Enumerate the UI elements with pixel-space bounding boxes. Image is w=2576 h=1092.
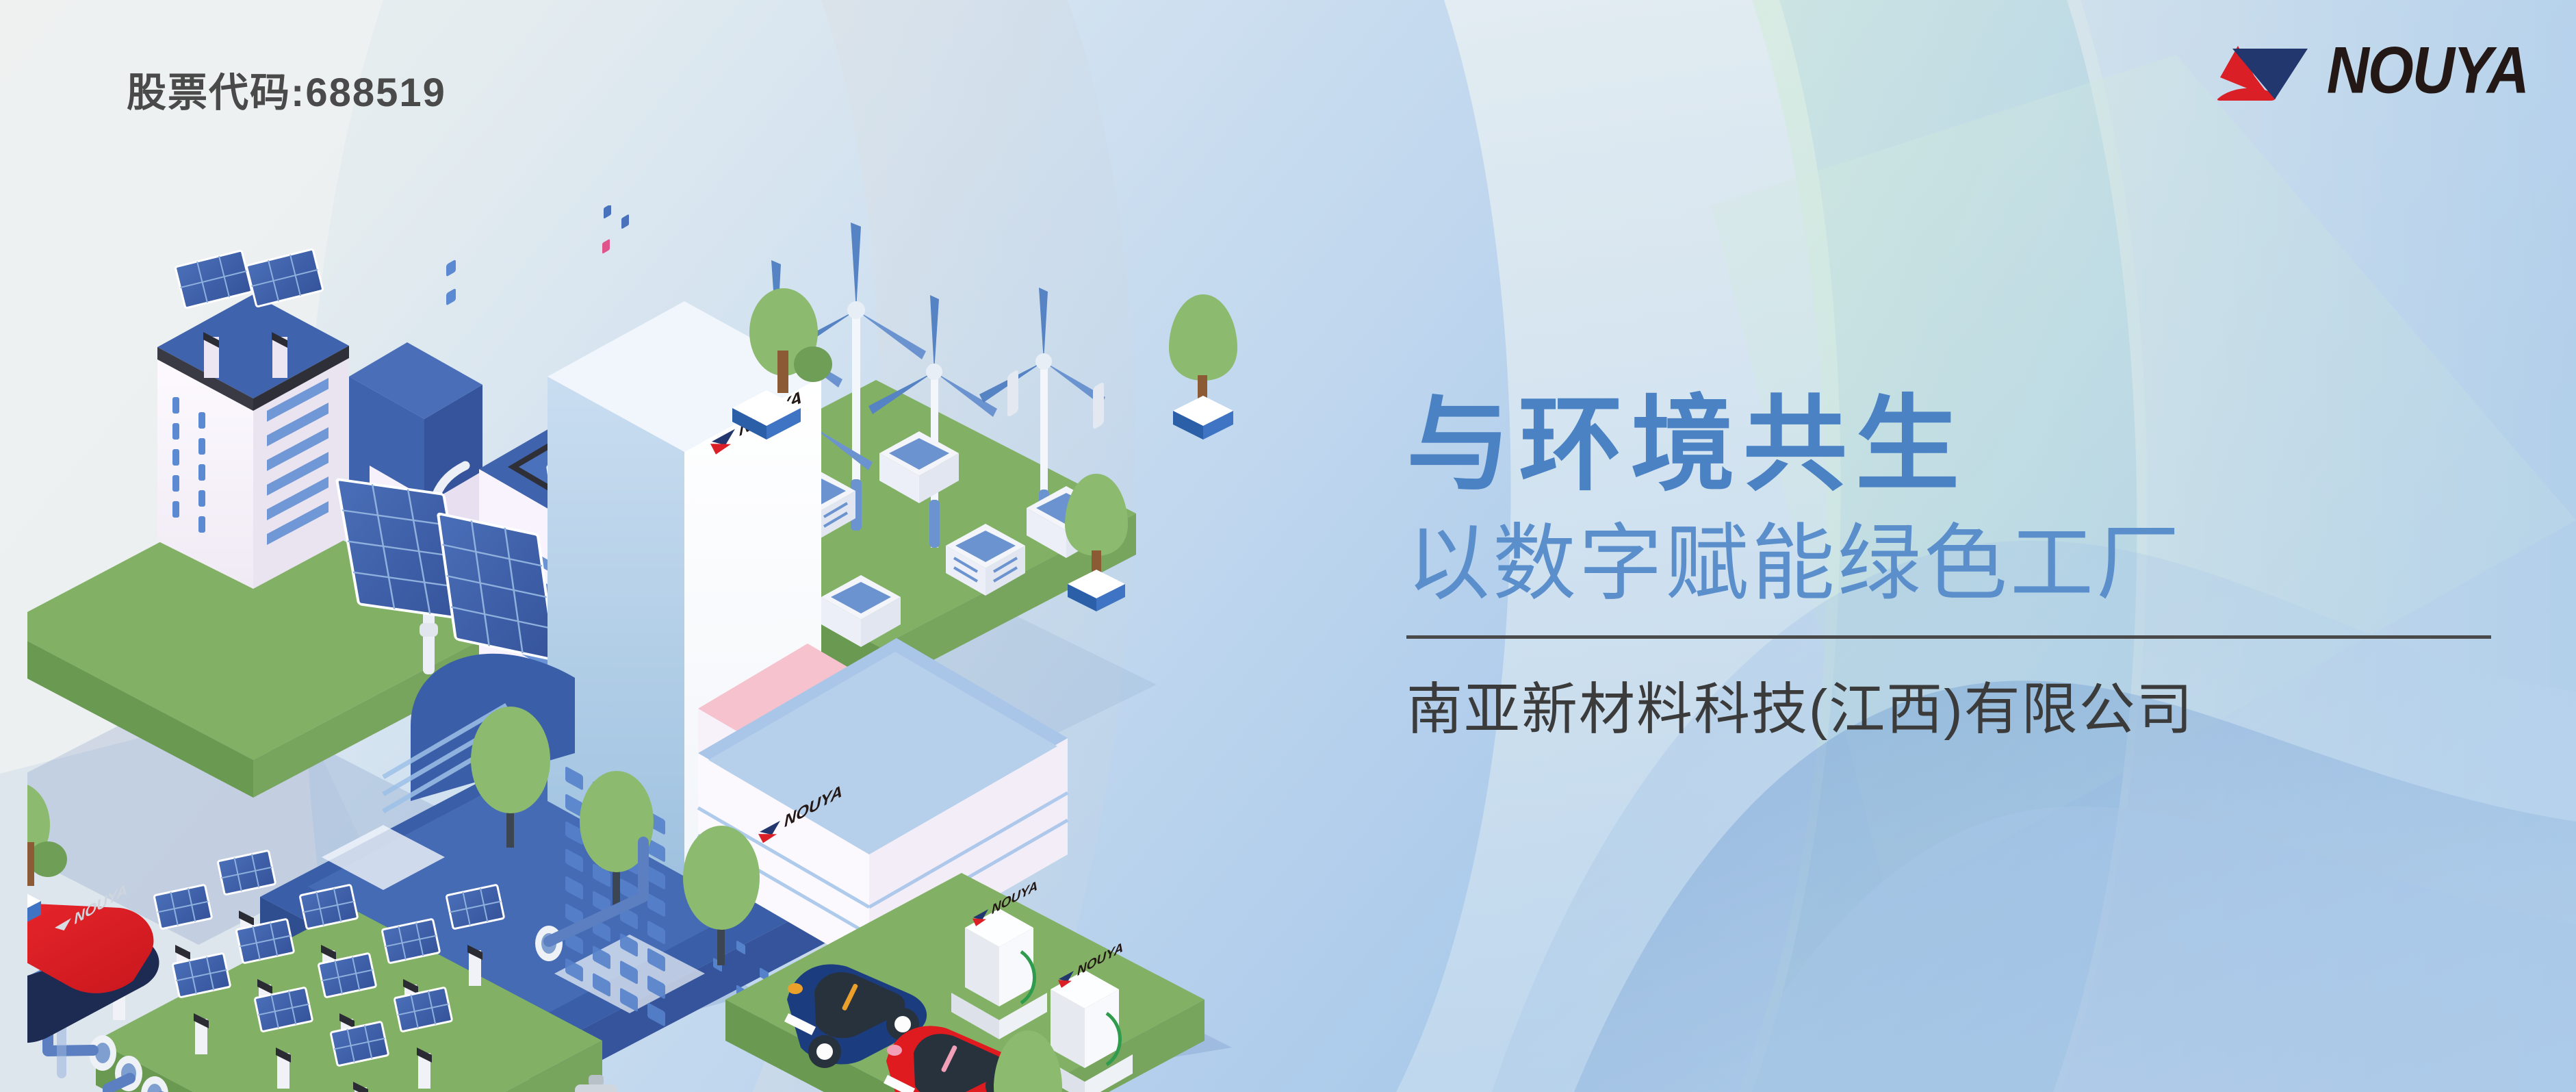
headline-main: 与环境共生 <box>1406 387 2529 503</box>
headline-block: 与环境共生 以数字赋能绿色工厂 南亚新材料科技(江西)有限公司 <box>1406 387 2529 745</box>
nouya-logo[interactable]: NOUYA <box>2212 38 2528 103</box>
company-name: 南亚新材料科技(江西)有限公司 <box>1406 663 2529 745</box>
headline-sub: 以数字赋能绿色工厂 <box>1406 516 2529 611</box>
tree-pedestal <box>1065 474 1128 611</box>
ground-solar-panel <box>438 513 555 660</box>
banner-root: NOUYA <box>0 0 2576 1092</box>
isometric-illustration: NOUYA <box>27 205 1382 1092</box>
nouya-wordmark: NOUYA <box>2327 37 2528 103</box>
nouya-logo-mark-icon <box>2212 38 2315 103</box>
stock-code-label: 股票代码:688519 <box>127 60 446 118</box>
tree-pedestal <box>1169 294 1237 440</box>
solar-rooftop-building <box>157 249 349 589</box>
headline-divider <box>1406 635 2491 639</box>
